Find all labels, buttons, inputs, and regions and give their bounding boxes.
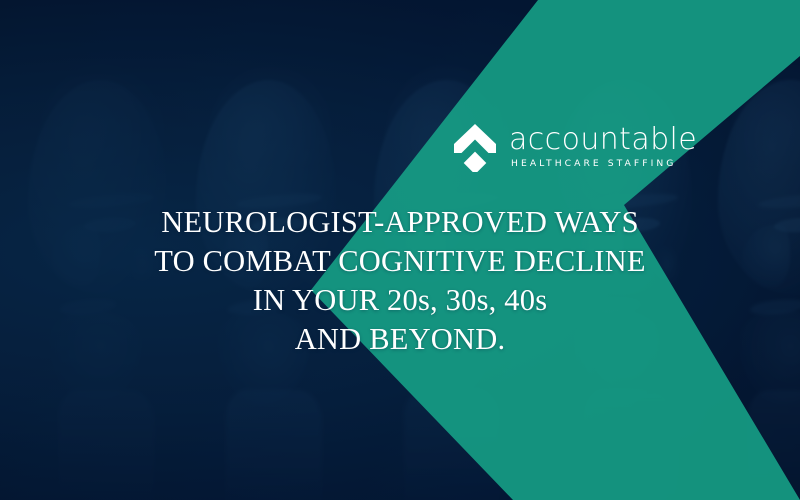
- headline: NEUROLOGIST-APPROVED WAYS TO COMBAT COGN…: [0, 203, 800, 359]
- headline-line-1: NEUROLOGIST-APPROVED WAYS: [0, 203, 800, 242]
- logo-text-block: accountable HEALTHCARE STAFFING: [509, 125, 697, 170]
- headline-line-3: IN YOUR 20s, 30s, 40s: [0, 281, 800, 320]
- brand-logo: accountable HEALTHCARE STAFFING: [452, 122, 697, 172]
- headline-line-2: TO COMBAT COGNITIVE DECLINE: [0, 242, 800, 281]
- chevron-diamond-logo-icon: [452, 122, 498, 172]
- promo-banner: accountable HEALTHCARE STAFFING NEUROLOG…: [0, 0, 800, 500]
- logo-wordmark: accountable: [509, 125, 697, 156]
- logo-tagline: HEALTHCARE STAFFING: [509, 158, 697, 169]
- headline-line-4: AND BEYOND.: [0, 320, 800, 359]
